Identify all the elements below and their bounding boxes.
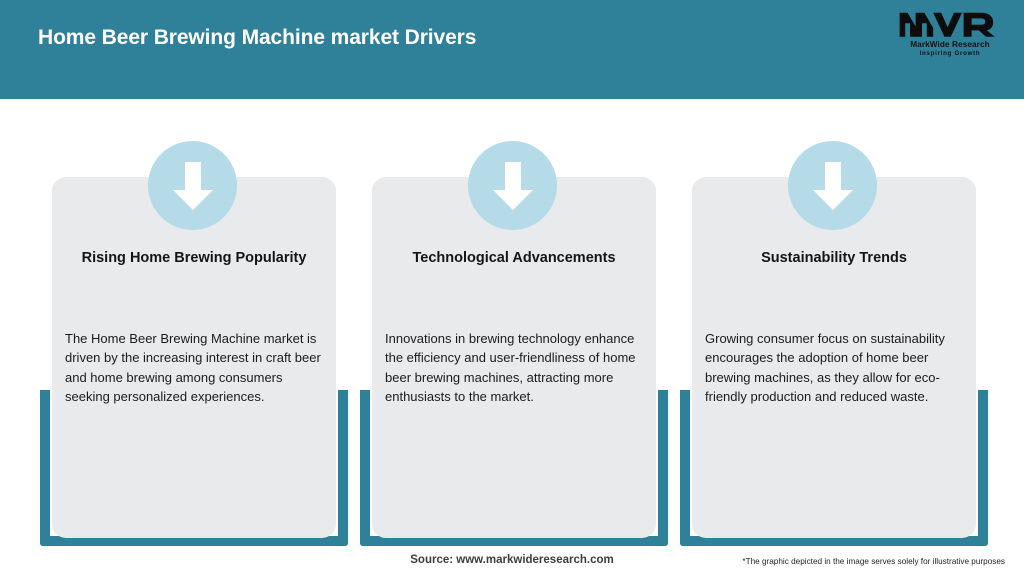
card-heading: Sustainability Trends (710, 247, 958, 270)
down-arrow-icon (788, 141, 877, 230)
drivers-card-group: Rising Home Brewing Popularity The Home … (0, 0, 1024, 576)
down-arrow-icon (468, 141, 557, 230)
card-surface: Sustainability Trends Growing consumer f… (692, 177, 976, 538)
driver-card-3: Sustainability Trends Growing consumer f… (680, 0, 988, 576)
driver-card-2: Technological Advancements Innovations i… (360, 0, 668, 576)
card-body-text: Growing consumer focus on sustainability… (705, 329, 963, 407)
driver-card-1: Rising Home Brewing Popularity The Home … (40, 0, 348, 576)
card-body-text: Innovations in brewing technology enhanc… (385, 329, 643, 407)
card-heading: Rising Home Brewing Popularity (70, 247, 318, 270)
down-arrow-icon (148, 141, 237, 230)
disclaimer-note: *The graphic depicted in the image serve… (742, 557, 1005, 566)
card-surface: Rising Home Brewing Popularity The Home … (52, 177, 336, 538)
card-heading: Technological Advancements (390, 247, 638, 270)
card-surface: Technological Advancements Innovations i… (372, 177, 656, 538)
card-body-text: The Home Beer Brewing Machine market is … (65, 329, 323, 407)
